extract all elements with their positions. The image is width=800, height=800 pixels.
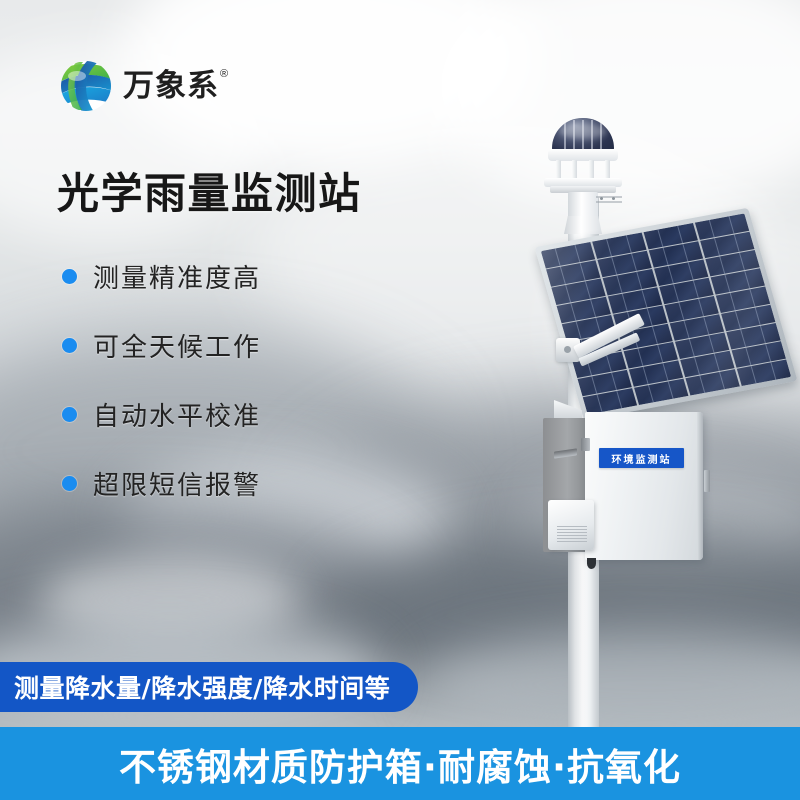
list-item: 自动水平校准 bbox=[62, 396, 261, 433]
enclosure-hinge bbox=[581, 438, 590, 451]
equipment-enclosure: 环境监测站 bbox=[543, 412, 707, 564]
enclosure-latch[interactable] bbox=[704, 470, 710, 492]
enclosure-side-slot bbox=[554, 448, 577, 458]
optical-rain-sensor bbox=[542, 118, 624, 206]
enclosure-vent-box bbox=[548, 500, 594, 550]
feature-label: 测量精准度高 bbox=[93, 258, 261, 295]
sensor-neck bbox=[568, 192, 598, 218]
enclosure-drip-cap bbox=[587, 558, 596, 569]
list-item: 可全天候工作 bbox=[62, 327, 261, 364]
solar-cell-grid bbox=[541, 213, 791, 414]
enclosure-door-edge bbox=[697, 412, 703, 560]
measurement-capability-banner: 测量降水量/降水强度/降水时间等 bbox=[0, 662, 418, 712]
sensor-base-taper bbox=[564, 216, 602, 234]
globe-swirl-logo-icon bbox=[58, 58, 114, 114]
feature-list: 测量精准度高 可全天候工作 自动水平校准 超限短信报警 bbox=[62, 258, 261, 502]
enclosure-name-plate-text: 环境监测站 bbox=[612, 451, 672, 466]
product-poster: 环境监测站 bbox=[0, 0, 800, 800]
brand-logo: 万象系 ® bbox=[58, 58, 228, 114]
material-highlight-text: 不锈钢材质防护箱·耐腐蚀·抗氧化 bbox=[119, 737, 681, 791]
bullet-dot-icon bbox=[62, 338, 77, 353]
feature-label: 超限短信报警 bbox=[93, 465, 261, 502]
measurement-capability-text: 测量降水量/降水强度/降水时间等 bbox=[14, 669, 390, 705]
material-highlight-bar: 不锈钢材质防护箱·耐腐蚀·抗氧化 bbox=[0, 727, 800, 800]
bullet-dot-icon bbox=[62, 269, 77, 284]
product-image: 环境监测站 bbox=[480, 100, 800, 730]
bullet-dot-icon bbox=[62, 476, 77, 491]
enclosure-name-plate: 环境监测站 bbox=[599, 448, 684, 468]
brand-name: 万象系 bbox=[123, 71, 219, 102]
sensor-posts bbox=[556, 160, 610, 180]
sensor-dome-icon bbox=[552, 118, 614, 152]
feature-label: 可全天候工作 bbox=[93, 327, 261, 364]
bullet-dot-icon bbox=[62, 407, 77, 422]
feature-label: 自动水平校准 bbox=[93, 396, 261, 433]
enclosure-door bbox=[585, 412, 703, 560]
page-title: 光学雨量监测站 bbox=[57, 172, 362, 216]
vent-louvers-icon bbox=[557, 526, 587, 543]
bracket-bolt-icon bbox=[564, 346, 571, 353]
trademark-icon: ® bbox=[220, 68, 228, 80]
list-item: 超限短信报警 bbox=[62, 465, 261, 502]
brand-name-block: 万象系 ® bbox=[123, 71, 228, 102]
list-item: 测量精准度高 bbox=[62, 258, 261, 295]
